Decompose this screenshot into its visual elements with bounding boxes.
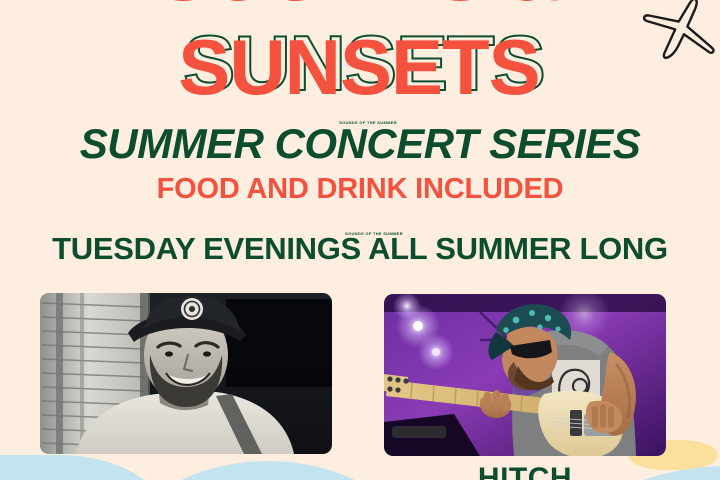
headline-line-2-fill: SUNSETS	[0, 19, 719, 115]
headline-line-2: SUNSETS SUNSETS	[0, 18, 720, 114]
subtitle-schedule: TUESDAY EVENINGS ALL SUMMER LONG	[0, 231, 720, 267]
page-title: SOUNDS & SOUNDS & SUNSETS SUNSETS	[0, 0, 720, 114]
blue-blob-left-decoration	[0, 455, 170, 480]
subtitle-food-drink: FOOD AND DRINK INCLUDED	[0, 173, 720, 206]
artist-name-right: HITCH	[384, 462, 666, 480]
subtitle-concert-series: SUMMER CONCERT SERIES	[0, 120, 720, 168]
poster-canvas: SOUNDS & SOUNDS & SUNSETS SUNSETS SOUNDS…	[0, 0, 720, 480]
artist-photo-left[interactable]	[40, 293, 332, 454]
blue-blob-center-decoration	[118, 461, 418, 480]
artist-photo-right[interactable]	[384, 294, 666, 456]
